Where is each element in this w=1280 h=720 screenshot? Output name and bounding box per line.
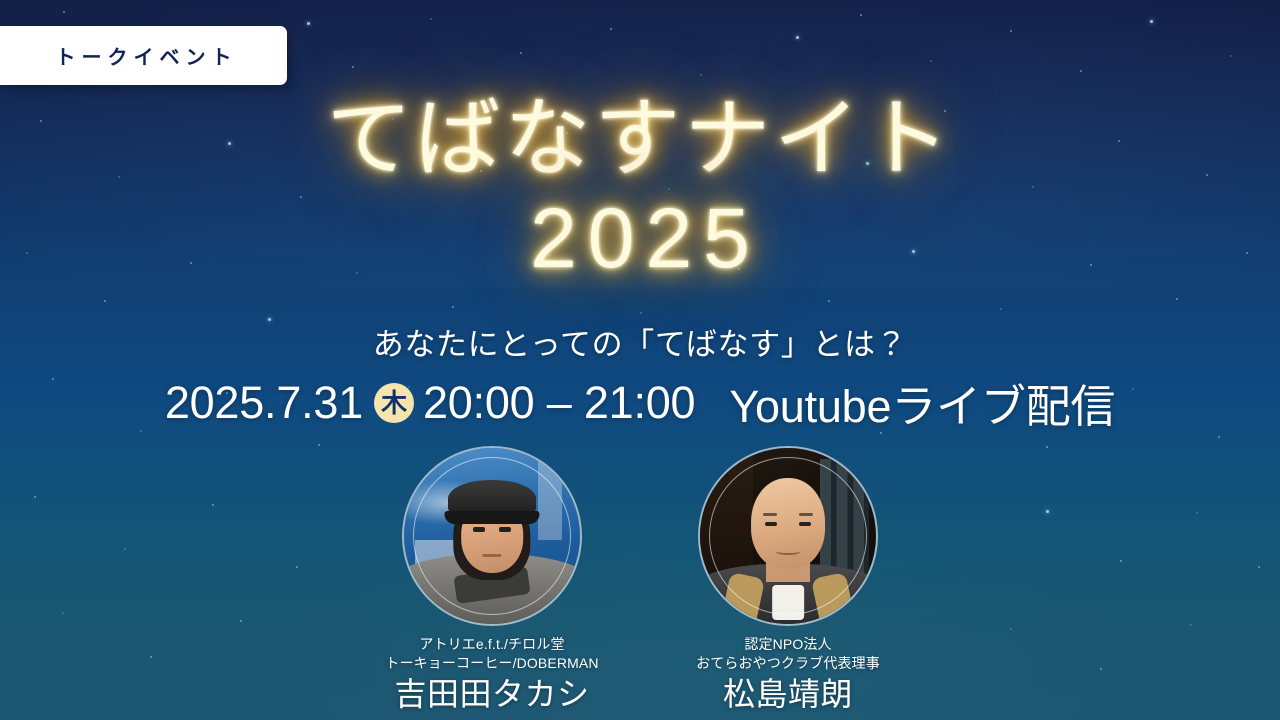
event-channel: Youtubeライブ配信	[729, 370, 1115, 435]
speaker-name: 吉田田タカシ	[377, 676, 607, 713]
speaker-photo-matsushima	[700, 448, 876, 624]
speaker-list: アトリエe.f.t./チロル堂 トーキョーコーヒー/DOBERMAN 吉田田タカ…	[0, 448, 1280, 713]
event-poster: トークイベント てばなすナイト 2025 あなたにとっての「てばなす」とは？ 2…	[0, 0, 1280, 720]
speaker-affiliation-line2: おてらおやつクラブ代表理事	[673, 654, 903, 673]
speaker-avatar	[700, 448, 876, 624]
photo-mouth	[482, 554, 501, 557]
category-badge: トークイベント	[0, 26, 287, 85]
event-time: 20:00 – 21:00	[423, 377, 695, 429]
photo-eye-right	[499, 527, 511, 532]
event-title-year: 2025	[0, 196, 1280, 280]
speaker-avatar	[404, 448, 580, 624]
event-schedule: 2025.7.31 木 20:00 – 21:00 Youtubeライブ配信	[0, 370, 1280, 435]
photo-eye-left	[765, 522, 777, 526]
speaker-card: 認定NPO法人 おてらおやつクラブ代表理事 松島靖朗	[673, 448, 903, 713]
photo-eye-right	[799, 522, 811, 526]
photo-cap-brim	[444, 511, 539, 523]
day-of-week-badge: 木	[374, 383, 414, 423]
photo-brow-left	[763, 513, 777, 516]
photo-inner-collar	[772, 585, 804, 620]
speaker-card: アトリエe.f.t./チロル堂 トーキョーコーヒー/DOBERMAN 吉田田タカ…	[377, 448, 607, 713]
event-date: 2025.7.31	[165, 377, 363, 429]
category-badge-label: トークイベント	[50, 41, 238, 70]
photo-building-right	[538, 459, 563, 540]
event-title-line1: てばなすナイト	[0, 96, 1280, 182]
speaker-name: 松島靖朗	[673, 676, 903, 713]
speaker-affiliation: アトリエe.f.t./チロル堂 トーキョーコーヒー/DOBERMAN	[377, 635, 607, 673]
photo-smile	[776, 548, 801, 555]
photo-eye-left	[473, 527, 485, 532]
speaker-photo-yoshidada	[404, 448, 580, 624]
photo-head	[751, 478, 825, 570]
event-title: てばなすナイト 2025	[0, 96, 1280, 280]
speaker-affiliation-line1: アトリエe.f.t./チロル堂	[377, 635, 607, 654]
event-subtitle: あなたにとっての「てばなす」とは？	[0, 319, 1280, 364]
speaker-affiliation-line1: 認定NPO法人	[673, 635, 903, 654]
speaker-affiliation-line2: トーキョーコーヒー/DOBERMAN	[377, 654, 607, 673]
photo-brow-right	[799, 513, 813, 516]
speaker-affiliation: 認定NPO法人 おてらおやつクラブ代表理事	[673, 635, 903, 673]
